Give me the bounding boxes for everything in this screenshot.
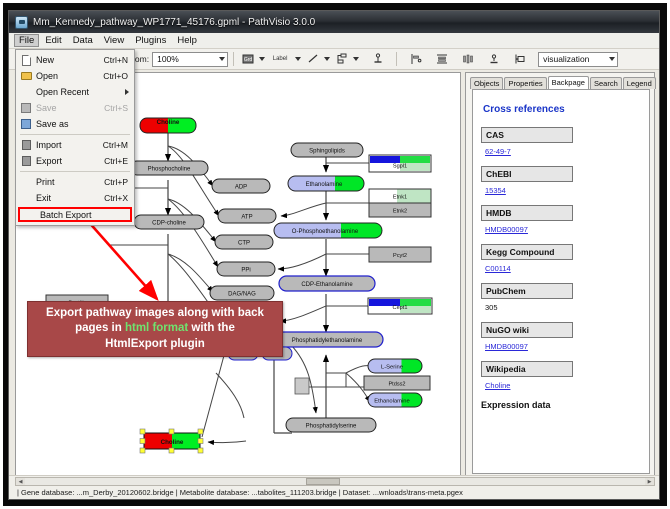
svg-text:CTP: CTP bbox=[238, 241, 250, 247]
scroll-left-icon[interactable]: ◀ bbox=[16, 478, 25, 485]
datanode-icon[interactable] bbox=[512, 52, 527, 67]
open-folder-icon bbox=[16, 72, 36, 80]
menu-plugins[interactable]: Plugins bbox=[130, 34, 171, 47]
file-menu-dropdown: New Ctrl+N Open Ctrl+O Open Recent Save … bbox=[15, 49, 135, 226]
svg-text:Ethanolamine: Ethanolamine bbox=[374, 399, 409, 405]
xref-link-cas[interactable]: 62-49-7 bbox=[485, 147, 511, 156]
svg-text:ATP: ATP bbox=[241, 215, 252, 221]
callout-line-2-highlight: html format bbox=[125, 322, 188, 334]
line-chevron-down-icon[interactable] bbox=[324, 57, 330, 61]
grid-chevron-down-icon[interactable] bbox=[259, 57, 265, 61]
interaction-icon[interactable] bbox=[334, 52, 349, 67]
xref-value-nugo-wiki[interactable]: HMDB00097 bbox=[485, 342, 641, 351]
zoom-value: 100% bbox=[157, 54, 179, 64]
export-icon bbox=[16, 156, 36, 166]
svg-text:DAG/NAG: DAG/NAG bbox=[228, 292, 256, 298]
file-menu-accel-open: Ctrl+O bbox=[103, 71, 134, 81]
file-menu-label-save-as: Save as bbox=[36, 119, 128, 129]
grid-icon[interactable]: Grd bbox=[240, 52, 255, 67]
file-menu-label-save: Save bbox=[36, 103, 104, 113]
file-menu-label-open-recent: Open Recent bbox=[36, 87, 134, 97]
menu-file[interactable]: File bbox=[14, 34, 39, 47]
visualization-select[interactable]: visualization bbox=[538, 52, 618, 67]
expression-data-title: Expression data bbox=[481, 400, 641, 410]
tab-properties[interactable]: Properties bbox=[504, 77, 546, 89]
xref-value-cas[interactable]: 62-49-7 bbox=[485, 147, 641, 156]
xref-head-wikipedia: Wikipedia bbox=[481, 361, 573, 377]
annotation-callout: Export pathway images along with back pa… bbox=[27, 301, 283, 357]
svg-text:Etnk1: Etnk1 bbox=[393, 195, 407, 201]
svg-text:Grd: Grd bbox=[243, 57, 252, 63]
callout-line-2-post: with the bbox=[188, 322, 235, 334]
xref-value-pubchem: 305 bbox=[485, 303, 641, 312]
svg-text:Cept1: Cept1 bbox=[393, 305, 408, 311]
file-menu-accel-exit: Ctrl+X bbox=[104, 193, 134, 203]
file-menu-item-exit[interactable]: Exit Ctrl+X bbox=[16, 190, 134, 206]
file-menu-accel-import: Ctrl+M bbox=[103, 140, 134, 150]
horizontal-scrollbar[interactable]: ◀ ▶ bbox=[15, 477, 655, 486]
menu-view[interactable]: View bbox=[99, 34, 129, 47]
window-title: Mm_Kennedy_pathway_WP1771_45176.gpml - P… bbox=[33, 17, 315, 28]
svg-text:Choline: Choline bbox=[161, 439, 184, 446]
tab-backpage[interactable]: Backpage bbox=[548, 76, 589, 89]
label-button-text: Label bbox=[273, 56, 288, 62]
align-icon[interactable] bbox=[408, 52, 423, 67]
svg-text:Pcyt2: Pcyt2 bbox=[393, 253, 407, 259]
xref-link-wikipedia[interactable]: Choline bbox=[485, 381, 510, 390]
status-bar: ◀ ▶ | Gene database: ...m_Derby_20120602… bbox=[9, 475, 660, 499]
svg-text:PPi: PPi bbox=[241, 268, 250, 274]
visualization-value: visualization bbox=[543, 54, 589, 64]
file-menu-item-new[interactable]: New Ctrl+N bbox=[16, 52, 134, 68]
svg-text:Etnk2: Etnk2 bbox=[393, 209, 407, 215]
import-icon bbox=[16, 140, 36, 150]
callout-line-3: HtmlExport plugin bbox=[105, 338, 205, 350]
tab-objects[interactable]: Objects bbox=[470, 77, 503, 89]
menu-data[interactable]: Data bbox=[68, 34, 98, 47]
title-bar: Mm_Kennedy_pathway_WP1771_45176.gpml - P… bbox=[9, 11, 660, 33]
anchor-icon[interactable] bbox=[370, 52, 385, 67]
svg-text:Phosphatidylethanolamine: Phosphatidylethanolamine bbox=[292, 338, 363, 344]
file-menu-item-export[interactable]: Export Ctrl+E bbox=[16, 153, 134, 169]
annotation-text: Export pathway images along with back pa… bbox=[40, 306, 270, 353]
save-as-icon bbox=[16, 119, 36, 129]
interaction-chevron-down-icon[interactable] bbox=[353, 57, 359, 61]
xref-head-hmdb: HMDB bbox=[481, 205, 573, 221]
visualization-chevron-down-icon bbox=[609, 57, 615, 61]
tab-search[interactable]: Search bbox=[590, 77, 622, 89]
toolbar-separator-2 bbox=[396, 52, 397, 66]
stack-icon[interactable] bbox=[460, 52, 475, 67]
menu-bar: File Edit Data View Plugins Help bbox=[9, 33, 660, 49]
label-icon[interactable]: Label bbox=[269, 52, 291, 67]
chevron-down-icon bbox=[219, 57, 225, 61]
file-menu-item-open-recent[interactable]: Open Recent bbox=[16, 84, 134, 100]
file-menu-accel-export: Ctrl+E bbox=[104, 156, 134, 166]
svg-text:CDP-choline: CDP-choline bbox=[152, 221, 186, 227]
backpage-content: Cross references CAS 62-49-7 ChEBI 15354… bbox=[472, 89, 650, 474]
menu-edit[interactable]: Edit bbox=[40, 34, 66, 47]
callout-line-2-pre: pages in bbox=[75, 322, 125, 334]
xref-head-chebi: ChEBI bbox=[481, 166, 573, 182]
file-menu-accel-print: Ctrl+P bbox=[104, 177, 134, 187]
svg-text:Phosphocholine: Phosphocholine bbox=[148, 167, 191, 173]
svg-text:Ethanolamine: Ethanolamine bbox=[306, 182, 343, 188]
xref-value-kegg-compound[interactable]: C00114 bbox=[485, 264, 641, 273]
menu-help[interactable]: Help bbox=[172, 34, 202, 47]
line-icon[interactable] bbox=[305, 52, 320, 67]
svg-text:ADP: ADP bbox=[235, 185, 247, 191]
xref-value-wikipedia[interactable]: Choline bbox=[485, 381, 641, 390]
file-menu-label-import: Import bbox=[36, 140, 103, 150]
file-menu-label-export: Export bbox=[36, 156, 104, 166]
tab-legend[interactable]: Legend bbox=[623, 77, 656, 89]
screenshot-root: Mm_Kennedy_pathway_WP1771_45176.gpml - P… bbox=[0, 0, 670, 509]
svg-text:Sphingolipids: Sphingolipids bbox=[309, 149, 345, 155]
file-menu-item-open[interactable]: Open Ctrl+O bbox=[16, 68, 134, 84]
file-menu-accel-save: Ctrl+S bbox=[104, 103, 134, 113]
group-icon[interactable] bbox=[486, 52, 501, 67]
pathvisio-app-icon bbox=[15, 16, 28, 29]
submenu-chevron-right-icon bbox=[125, 89, 129, 95]
svg-text:L-Serine: L-Serine bbox=[381, 365, 403, 371]
xref-head-nugo-wiki: NuGO wiki bbox=[481, 322, 573, 338]
file-menu-label-open: Open bbox=[36, 71, 103, 81]
label-chevron-down-icon[interactable] bbox=[295, 57, 301, 61]
file-menu-item-save: Save Ctrl+S bbox=[16, 100, 134, 116]
file-menu-separator-1 bbox=[20, 134, 130, 135]
new-document-icon bbox=[16, 55, 36, 66]
file-menu-accel-new: Ctrl+N bbox=[104, 55, 134, 65]
svg-text:Phosphatidylserine: Phosphatidylserine bbox=[306, 424, 357, 430]
svg-text:Choline: Choline bbox=[157, 119, 180, 126]
file-menu-label-exit: Exit bbox=[36, 193, 104, 203]
side-panel: Objects Properties Backpage Search Legen… bbox=[465, 72, 655, 477]
file-menu-item-save-as[interactable]: Save as bbox=[16, 116, 134, 132]
xref-value-hmdb[interactable]: HMDB00097 bbox=[485, 225, 641, 234]
svg-text:O-Phosphoethanolamine: O-Phosphoethanolamine bbox=[292, 229, 359, 235]
file-menu-item-batch-export[interactable]: Batch Export bbox=[18, 207, 132, 222]
status-text: | Gene database: ...m_Derby_20120602.bri… bbox=[17, 488, 463, 497]
svg-text:Ptdss2: Ptdss2 bbox=[388, 382, 405, 388]
svg-text:CDP-Ethanolamine: CDP-Ethanolamine bbox=[301, 282, 353, 288]
file-menu-label-print: Print bbox=[36, 177, 104, 187]
scrollbar-thumb[interactable] bbox=[306, 478, 340, 485]
file-menu-item-print[interactable]: Print Ctrl+P bbox=[16, 174, 134, 190]
xref-link-kegg-compound[interactable]: C00114 bbox=[485, 264, 511, 273]
toolbar-separator bbox=[233, 52, 234, 66]
file-menu-item-import[interactable]: Import Ctrl+M bbox=[16, 137, 134, 153]
distribute-icon[interactable] bbox=[434, 52, 449, 67]
xref-link-hmdb[interactable]: HMDB00097 bbox=[485, 225, 528, 234]
file-menu-separator-2 bbox=[20, 171, 130, 172]
callout-line-1: Export pathway images along with back bbox=[46, 307, 264, 319]
scroll-right-icon[interactable]: ▶ bbox=[645, 478, 654, 485]
xref-head-cas: CAS bbox=[481, 127, 573, 143]
file-menu-label-batch-export: Batch Export bbox=[40, 210, 130, 220]
cross-references-title: Cross references bbox=[483, 104, 641, 115]
side-panel-tabs: Objects Properties Backpage Search Legen… bbox=[470, 75, 657, 89]
xref-link-chebi[interactable]: 15354 bbox=[485, 186, 506, 195]
file-menu-label-new: New bbox=[36, 55, 104, 65]
xref-value-chebi[interactable]: 15354 bbox=[485, 186, 641, 195]
svg-text:Sgpl1: Sgpl1 bbox=[393, 164, 407, 170]
pathvisio-window: Mm_Kennedy_pathway_WP1771_45176.gpml - P… bbox=[8, 10, 660, 500]
save-icon bbox=[16, 103, 36, 113]
xref-link-nugo-wiki[interactable]: HMDB00097 bbox=[485, 342, 528, 351]
xref-head-kegg-compound: Kegg Compound bbox=[481, 244, 573, 260]
xref-head-pubchem: PubChem bbox=[481, 283, 573, 299]
zoom-select[interactable]: 100% bbox=[152, 52, 228, 67]
